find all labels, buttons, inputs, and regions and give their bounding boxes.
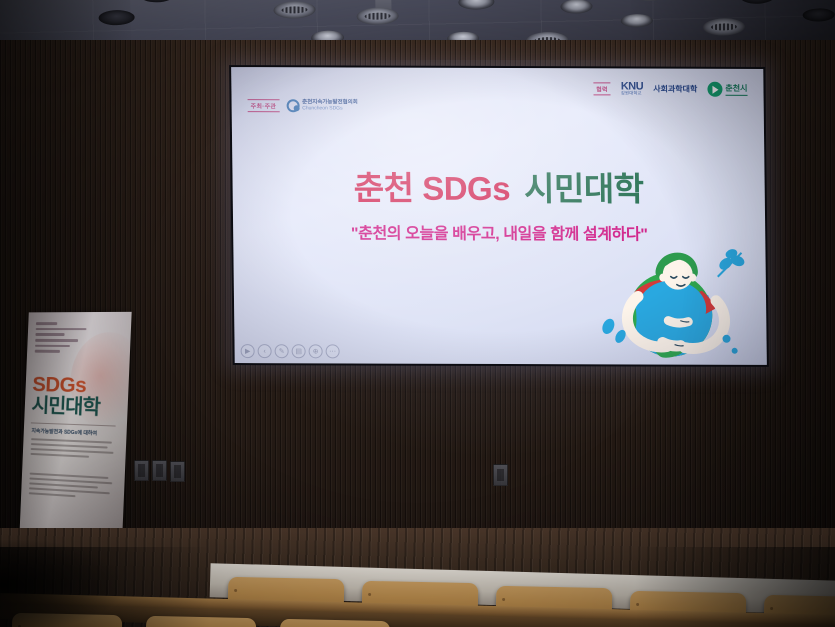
chuncheon-sdgs-name-en: Chuncheon SDGs [302, 106, 358, 112]
light-switch-plate[interactable] [134, 460, 149, 481]
college-name-label: 사회과학대학 [653, 84, 697, 95]
page-title: 춘천 SDGs시민대학 [232, 171, 764, 206]
slide-sponsor-logos-left: 주최·주관 춘천지속가능발전협의회 Chuncheon SDGs [248, 99, 358, 112]
banner-paragraph [30, 438, 114, 462]
presentation-play-button[interactable]: ▶ [241, 344, 255, 358]
presentation-more-button[interactable]: ⋯ [326, 344, 340, 358]
circle-swoosh-logo-icon [286, 99, 299, 112]
light-switch-plate[interactable] [152, 460, 167, 481]
banner-paragraph [29, 473, 113, 503]
title-part-green: 시민대학 [524, 170, 644, 207]
roll-up-banner: SDGs 시민대학 지속가능발전과 SDGs에 대하여 주최·주관 [17, 310, 131, 564]
auditorium-scene: 주최·주관 춘천지속가능발전협의회 Chuncheon SDGs 협력 KNU … [0, 0, 835, 627]
corner-shadow [0, 540, 120, 627]
projection-screen-frame: 주최·주관 춘천지속가능발전협의회 Chuncheon SDGs 협력 KNU … [229, 65, 769, 367]
seating-shadow-right [635, 547, 835, 627]
dot-icon [732, 348, 738, 354]
person-hugging-globe-illustration [597, 234, 761, 363]
green-c-play-icon [707, 82, 722, 97]
presentation-pen-button[interactable]: ✎ [275, 344, 289, 358]
light-switch-plate[interactable] [493, 464, 508, 486]
presentation-zoom-button[interactable]: ⊕ [309, 344, 323, 358]
slide-sponsor-logos-right: 협력 KNU 강원대학교 사회과학대학 춘천시 [593, 81, 747, 97]
host-tag-label: 주최·주관 [248, 99, 280, 112]
chuncheon-sdgs-logo: 춘천지속가능발전협의회 Chuncheon SDGs [286, 99, 358, 112]
banner-title-bottom: 시민대학 [31, 396, 100, 418]
globe-hug-svg [597, 234, 761, 363]
cooperation-tag-label: 협력 [593, 82, 611, 95]
dot-icon [722, 335, 730, 343]
knu-korean-name: 강원대학교 [621, 92, 643, 97]
banner-subheading: 지속가능발전과 SDGs에 대하여 [31, 427, 97, 437]
title-part-red: 춘천 SDGs [354, 169, 511, 207]
auditorium-seat[interactable] [280, 619, 391, 627]
presentation-slides-button[interactable]: ▤ [292, 344, 306, 358]
banner-title-top: SDGs [32, 374, 87, 396]
leaf-branch-icon [717, 247, 746, 276]
presentation-prev-button[interactable]: ‹ [258, 344, 272, 358]
projection-screen: 주최·주관 춘천지속가능발전협의회 Chuncheon SDGs 협력 KNU … [231, 67, 767, 365]
light-switch-plate[interactable] [170, 461, 185, 482]
chuncheon-city-logo: 춘천시 [707, 82, 747, 97]
city-name-label: 춘천시 [725, 83, 747, 96]
kangwon-university-logo: KNU 강원대학교 [621, 81, 644, 96]
presentation-toolbar[interactable]: ▶ ‹ ✎ ▤ ⊕ ⋯ [241, 344, 340, 358]
banner-intro-text [35, 322, 93, 356]
